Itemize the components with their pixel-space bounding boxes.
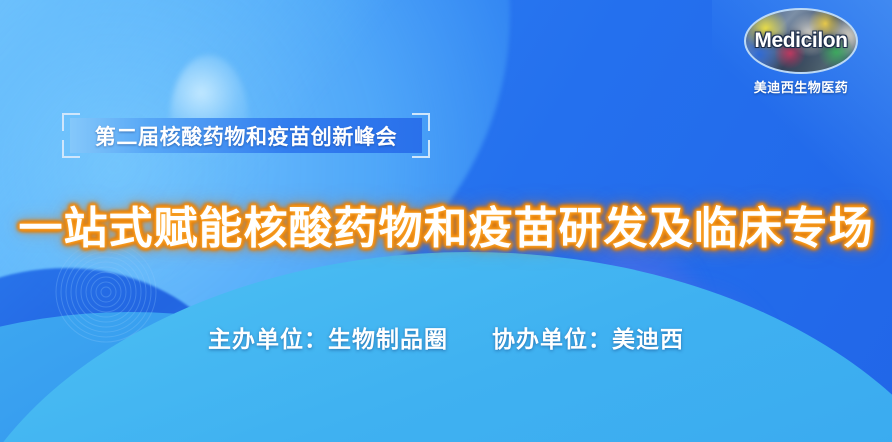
corner-bracket-icon-top-left [62,113,80,131]
corner-bracket-icon-bottom-right [412,140,430,158]
corner-bracket-icon-bottom-left [62,140,80,158]
logo-badge-icon: Medicilon [744,8,858,74]
credits-row: 主办单位：生物制品圈 协办单位：美迪西 [0,320,892,354]
event-poster: Medicilon 美迪西生物医药 第二届核酸药物和疫苗创新峰会 一站式赋能核酸… [0,0,892,442]
corner-bracket-icon-top-right [412,113,430,131]
medicilon-logo: Medicilon 美迪西生物医药 [740,8,862,96]
credit-co-organizer: 协办单位：美迪西 [492,320,684,354]
summit-banner-label: 第二届核酸药物和疫苗创新峰会 [95,121,397,151]
page-title: 一站式赋能核酸药物和疫苗研发及临床专场 [0,192,892,256]
logo-brand-word: Medicilon [746,10,856,72]
logo-brand-caption: 美迪西生物医药 [740,77,862,96]
summit-banner: 第二届核酸药物和疫苗创新峰会 [62,113,430,158]
summit-banner-fill: 第二届核酸药物和疫苗创新峰会 [70,118,422,153]
credit-organizer: 主办单位：生物制品圈 [208,320,448,354]
